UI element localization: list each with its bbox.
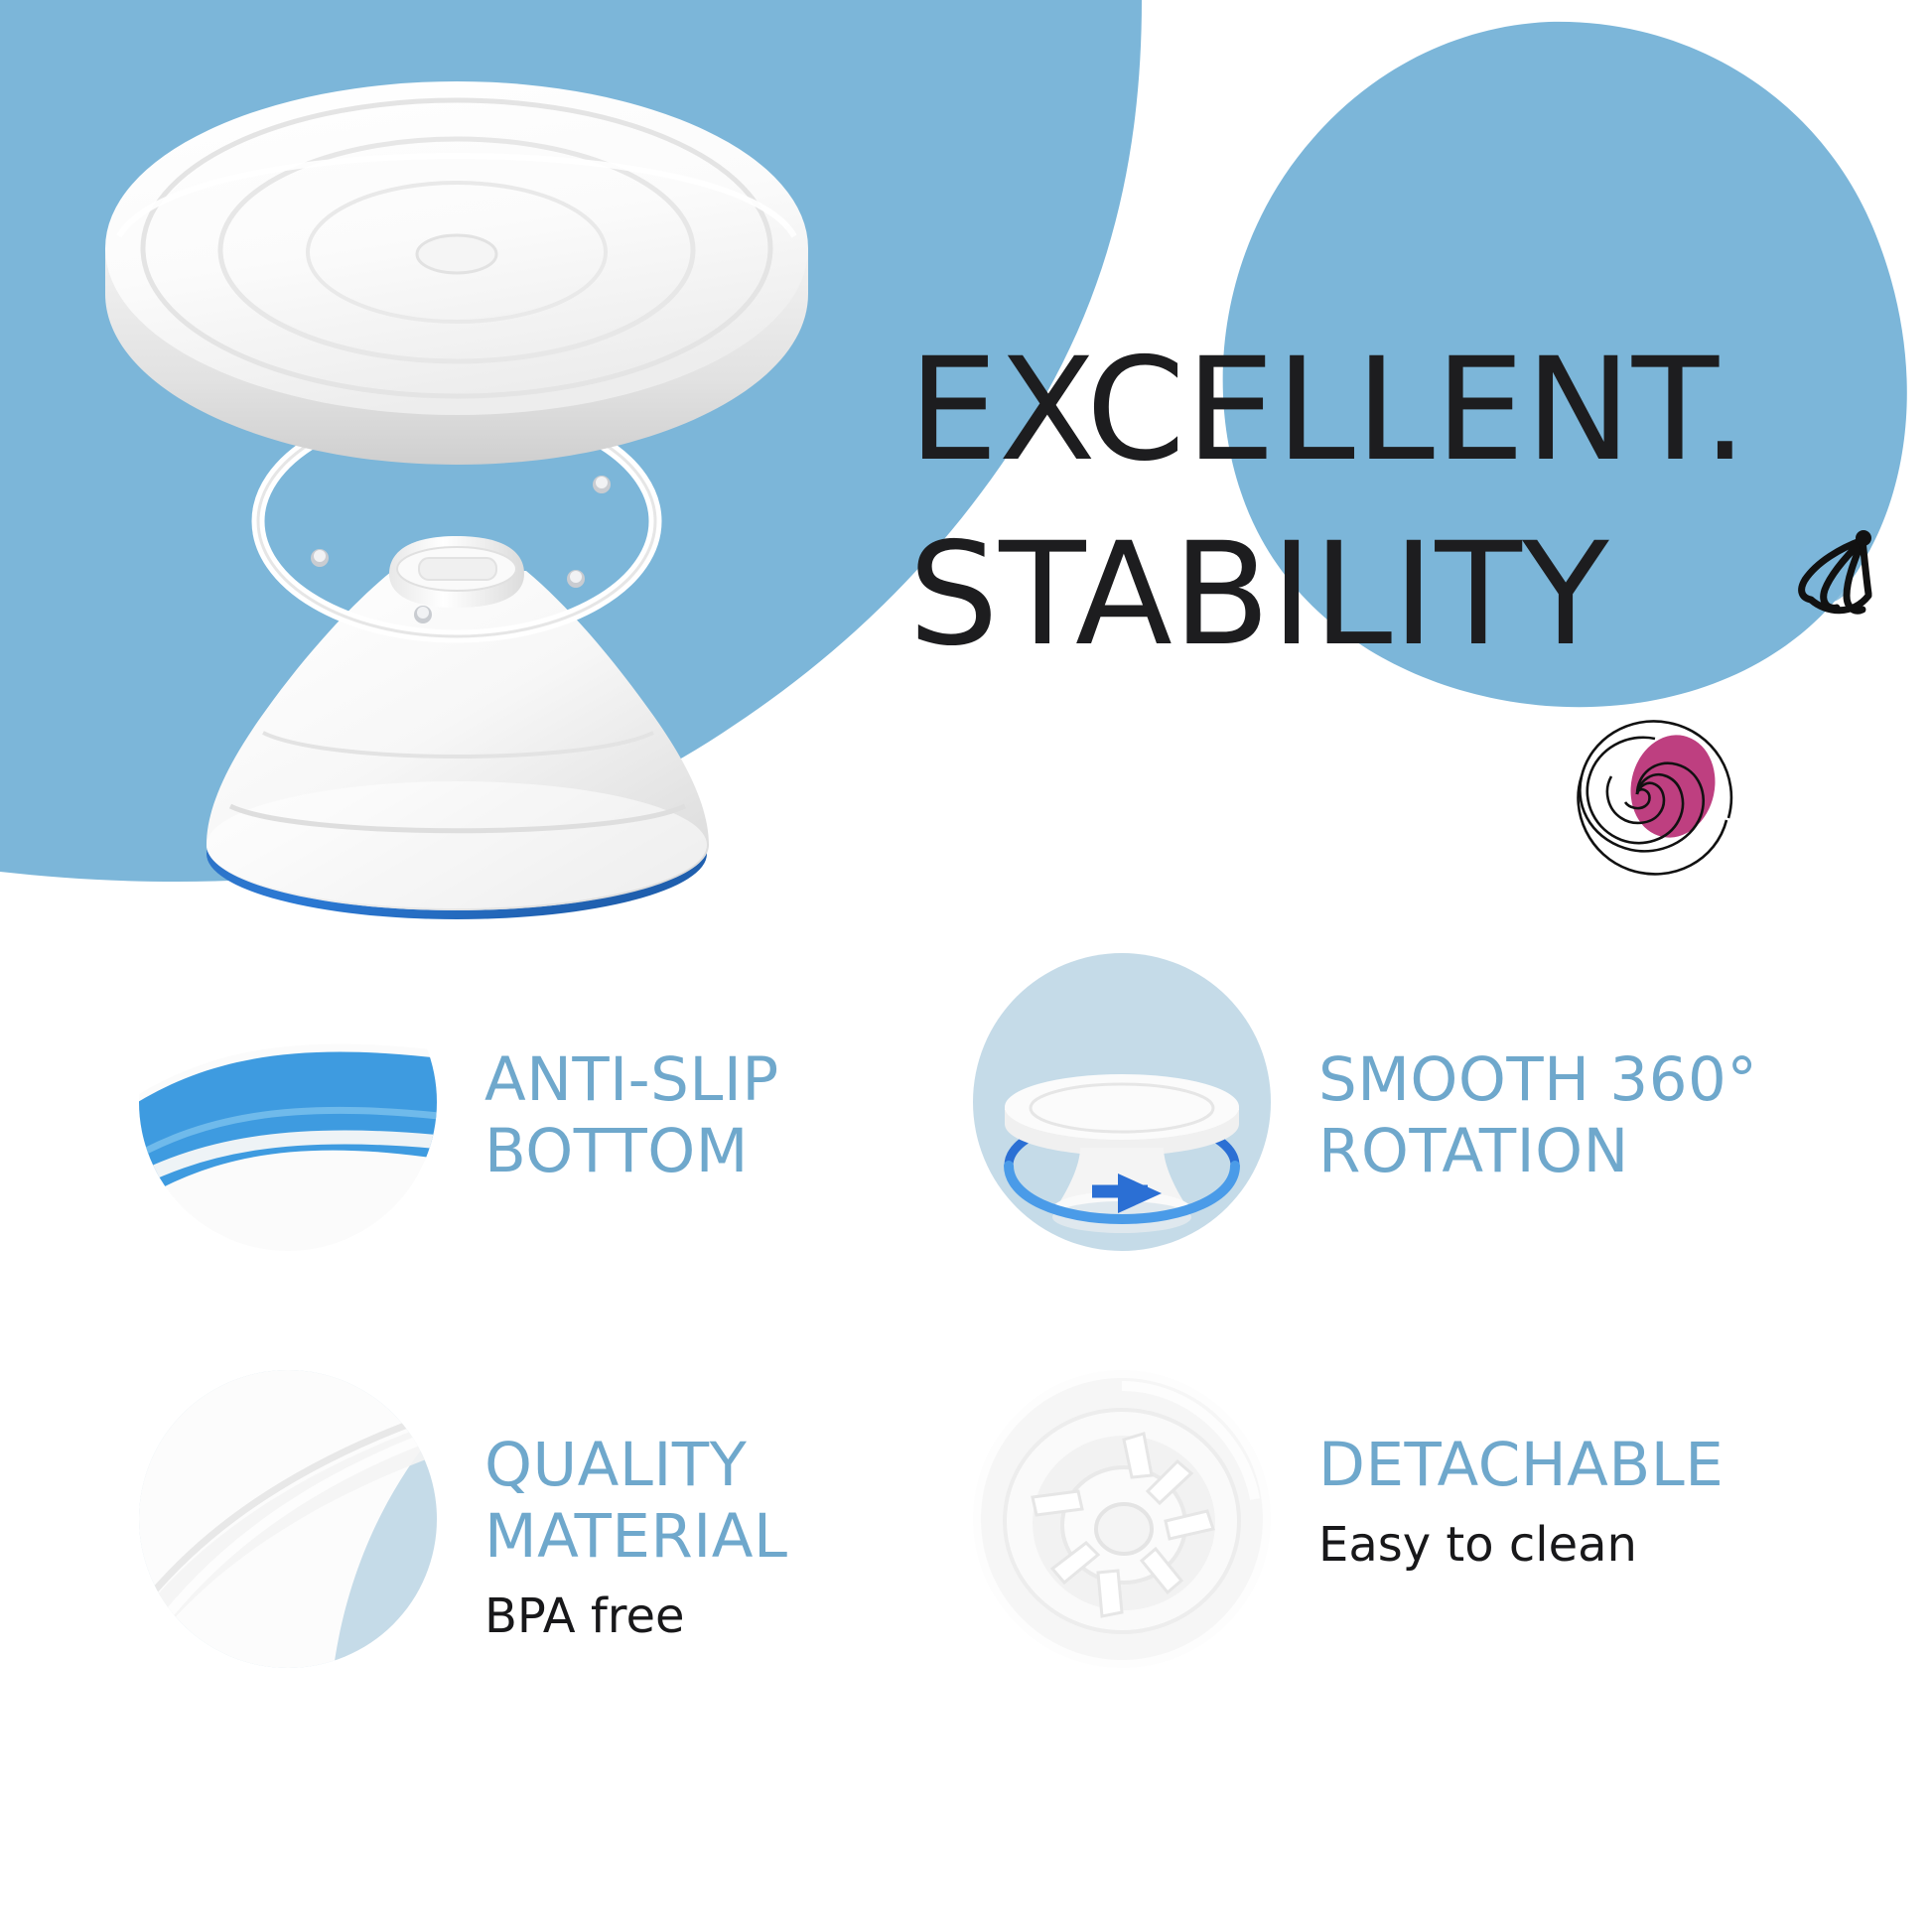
feature-quality-material: QUALITY MATERIAL BPA free — [139, 1370, 1033, 1727]
turntable-plate — [105, 81, 808, 465]
feature-anti-slip-bottom: ANTI-SLIP BOTTOM — [139, 953, 1033, 1311]
quality-text-block: QUALITY MATERIAL BPA free — [484, 1370, 788, 1646]
rotation-arrows-closeup-thumb — [973, 953, 1271, 1251]
plate-surface-closeup-thumb — [139, 1370, 437, 1668]
detachable-title: DETACHABLE — [1318, 1430, 1724, 1501]
rose-swirl-icon — [1534, 695, 1742, 894]
headline-line-1: EXCELLENT. — [908, 318, 1911, 502]
whisk-icon — [1775, 514, 1894, 633]
detachable-base-underside-thumb — [973, 1370, 1271, 1668]
rotation-title: SMOOTH 360° ROTATION — [1318, 1044, 1757, 1187]
hero-product-image — [60, 69, 854, 923]
infographic-canvas: EXCELLENT. STABILITY — [0, 0, 1932, 1932]
headline-line-2: STABILITY — [908, 502, 1911, 687]
quality-title: QUALITY MATERIAL — [484, 1430, 788, 1573]
feature-grid: ANTI-SLIP BOTTOM — [0, 953, 1932, 1807]
detachable-subtitle: Easy to clean — [1318, 1515, 1724, 1575]
anti-slip-text-block: ANTI-SLIP BOTTOM — [484, 953, 779, 1201]
feature-smooth-rotation: SMOOTH 360° ROTATION — [973, 953, 1866, 1311]
detachable-text-block: DETACHABLE Easy to clean — [1318, 1370, 1724, 1575]
rotation-text-block: SMOOTH 360° ROTATION — [1318, 953, 1757, 1201]
page-title: EXCELLENT. STABILITY — [908, 318, 1911, 687]
anti-slip-title: ANTI-SLIP BOTTOM — [484, 1044, 779, 1187]
quality-subtitle: BPA free — [484, 1587, 788, 1646]
anti-slip-band-closeup-thumb — [139, 953, 437, 1251]
feature-detachable: DETACHABLE Easy to clean — [973, 1370, 1866, 1727]
